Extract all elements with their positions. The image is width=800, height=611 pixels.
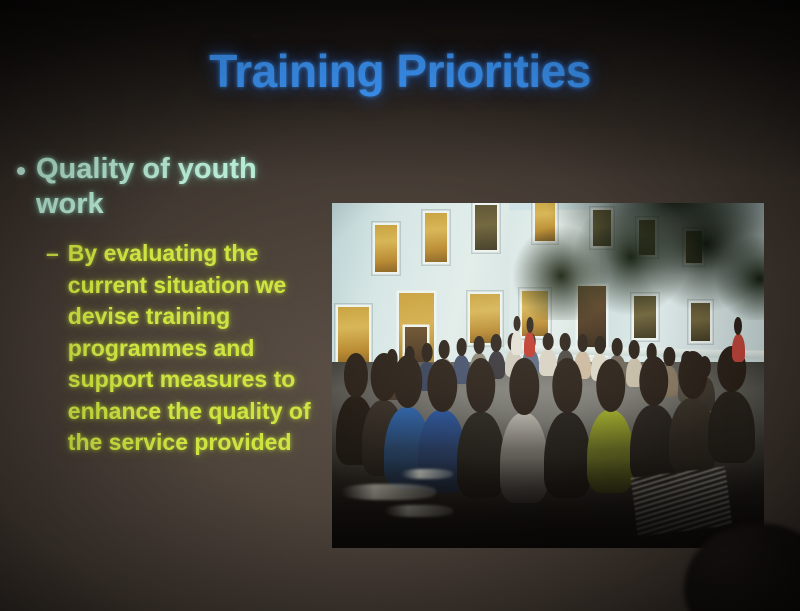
photo-ground-highlight [341, 484, 436, 500]
photo-ground-highlight [384, 505, 453, 517]
photo-standing-person [524, 332, 535, 356]
bullet-item-level1: Quality of youth work [12, 152, 308, 222]
photo-drain-grate [631, 467, 732, 537]
bullet-level1-label: Quality of youth work [36, 152, 308, 222]
bullet-dash-icon: – [46, 238, 59, 269]
projected-slide-photograph: Training Priorities Quality of youth wor… [0, 0, 800, 611]
photo-ground-highlight [401, 469, 453, 479]
photo-standing-person [732, 334, 745, 362]
photo-tree-foliage [513, 203, 764, 320]
photo-window [475, 205, 497, 250]
slide-title: Training Priorities [0, 44, 800, 98]
photo-window [425, 213, 447, 261]
slide-photo-image [332, 203, 764, 548]
bullet-level2-label: By evaluating the current situation we d… [68, 238, 316, 459]
bullet-item-level2: – By evaluating the current situation we… [46, 238, 316, 459]
bullet-dot-icon [17, 167, 25, 175]
photo-content [332, 203, 764, 548]
photo-window [375, 225, 397, 272]
